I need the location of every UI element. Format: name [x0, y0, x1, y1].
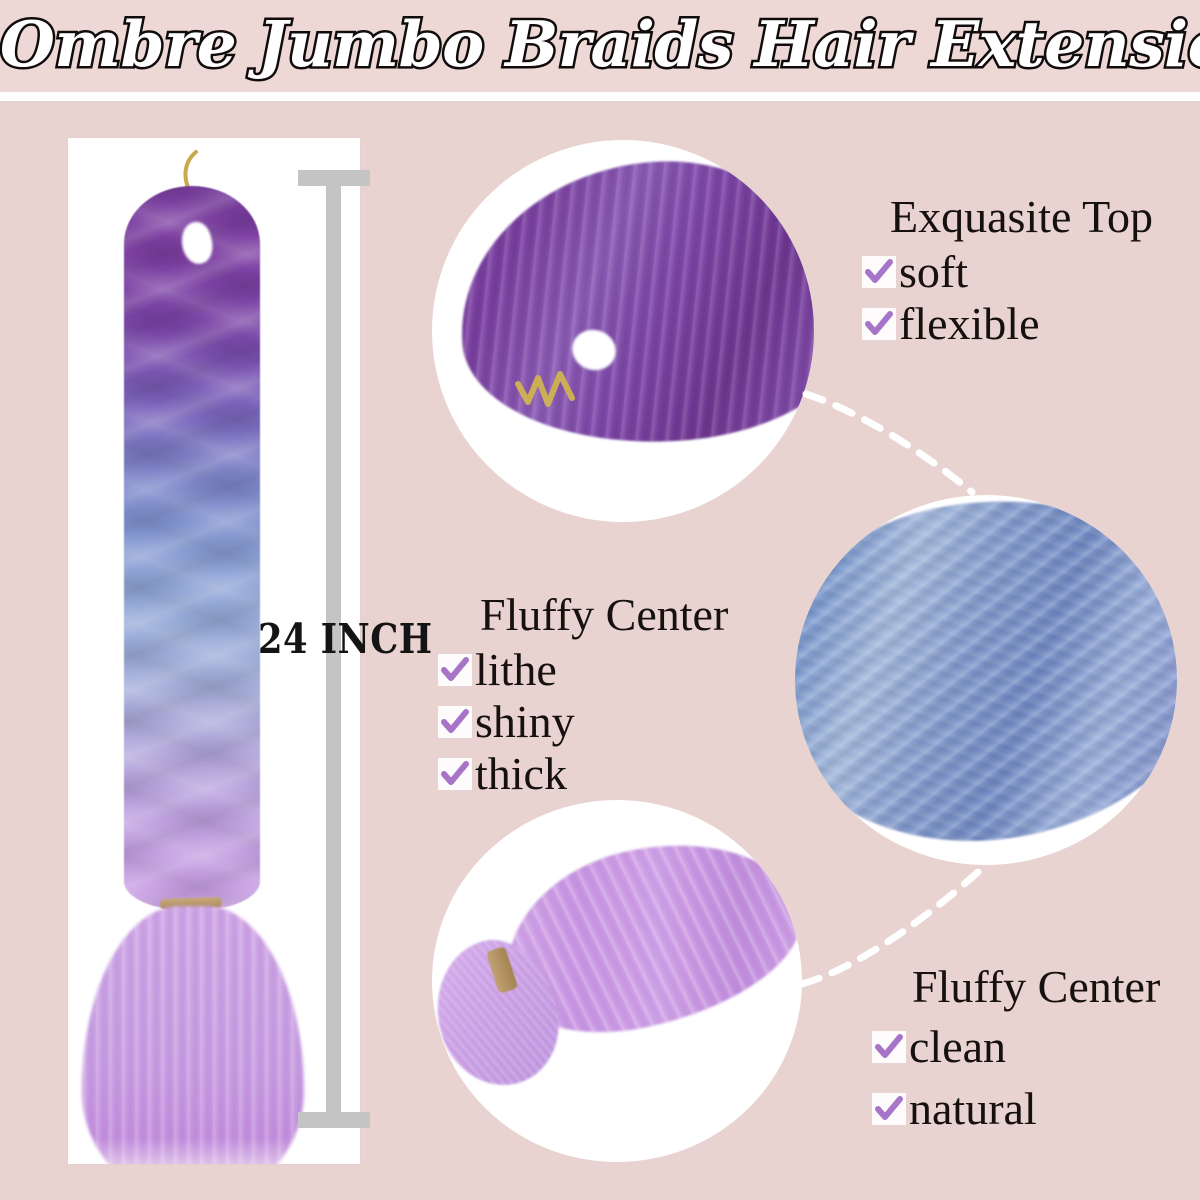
check-icon [862, 256, 896, 288]
feature-item-label: flexible [899, 298, 1040, 350]
feature-title: Fluffy Center [872, 958, 1160, 1016]
check-icon [438, 758, 472, 790]
feature-item-label: natural [909, 1078, 1037, 1140]
braid-strand-body [124, 186, 260, 910]
feature-title: Fluffy Center [438, 586, 728, 644]
blue-braid-strand-texture [795, 495, 1177, 865]
dashed-connector-top-icon [800, 372, 980, 502]
feature-block-fluffy-center-mid: Fluffy Center lithe shiny [438, 586, 728, 800]
check-icon [438, 654, 472, 686]
feature-item: clean [872, 1016, 1160, 1078]
purple-hair-strand-texture [451, 149, 814, 456]
feature-item: natural [872, 1078, 1160, 1140]
photo-lavender-end-closeup [432, 800, 802, 1162]
feature-item-label: lithe [475, 644, 557, 696]
feature-list: lithe shiny thick [438, 644, 728, 800]
header-banner: Ombre Jumbo Braids Hair Extensions [0, 0, 1200, 92]
ruler-cap-bottom [298, 1112, 370, 1128]
braid-fanned-tail [82, 906, 304, 1164]
feature-item-label: soft [899, 246, 968, 298]
check-icon [438, 706, 472, 738]
feature-item: thick [438, 748, 728, 800]
feature-item-label: clean [909, 1016, 1006, 1078]
feature-item: shiny [438, 696, 728, 748]
photo-purple-top-closeup [432, 140, 814, 522]
feature-list: clean natural [872, 1016, 1160, 1140]
feature-item: flexible [862, 298, 1153, 350]
feature-item: lithe [438, 644, 728, 696]
photo-inner [795, 495, 1177, 865]
photo-inner [432, 140, 814, 522]
length-label: 24 INCH [258, 615, 432, 663]
feature-item: soft [862, 246, 1153, 298]
page-title: Ombre Jumbo Braids Hair Extensions [0, 0, 1200, 90]
photo-blue-center-closeup [795, 495, 1177, 865]
feature-block-fluffy-center-bottom: Fluffy Center clean natural [872, 958, 1160, 1140]
check-icon [862, 308, 896, 340]
check-icon [872, 1093, 906, 1125]
header-divider [0, 92, 1200, 101]
gold-tie-icon [512, 358, 584, 410]
photo-inner [432, 800, 802, 1162]
feature-title: Exquasite Top [862, 188, 1153, 246]
feature-item-label: thick [475, 748, 567, 800]
feature-block-exquasite-top: Exquasite Top soft flexible [862, 188, 1153, 350]
feature-list: soft flexible [862, 246, 1153, 350]
check-icon [872, 1031, 906, 1063]
feature-item-label: shiny [475, 696, 575, 748]
